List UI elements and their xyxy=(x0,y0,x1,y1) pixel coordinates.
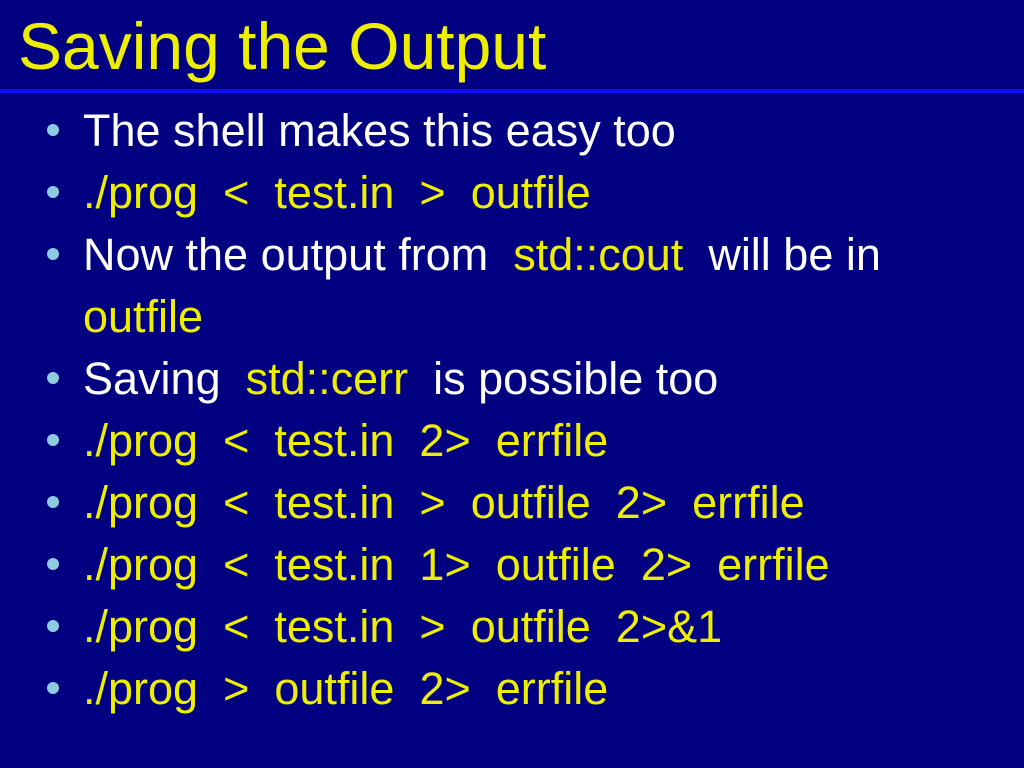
list-item: ./prog < test.in > outfile 2>&1 xyxy=(0,596,1024,658)
bullet-dot-icon xyxy=(47,124,59,136)
bullet-dot-icon xyxy=(47,558,59,570)
code-text: std::cout xyxy=(501,229,696,280)
bullet-dot-icon xyxy=(47,620,59,632)
bullet-dot-icon xyxy=(47,496,59,508)
list-item: ./prog > outfile 2> errfile xyxy=(0,658,1024,720)
bullet-dot-icon xyxy=(47,186,59,198)
list-item: ./prog < test.in > outfile 2> errfile xyxy=(0,472,1024,534)
slide-title-area: Saving the Output xyxy=(0,0,1024,90)
list-item-text: ./prog < test.in > outfile xyxy=(83,162,1024,224)
code-text: ./prog < test.in 1> outfile 2> errfile xyxy=(83,539,830,590)
code-text: ./prog < test.in 2> errfile xyxy=(83,415,608,466)
list-item-text: ./prog > outfile 2> errfile xyxy=(83,658,1024,720)
code-text: ./prog < test.in > outfile 2>&1 xyxy=(83,601,722,652)
bullet-dot-icon xyxy=(47,372,59,384)
plain-text: is possible too xyxy=(421,353,719,404)
list-item-text: ./prog < test.in 1> outfile 2> errfile xyxy=(83,534,1024,596)
list-item-text: ./prog < test.in 2> errfile xyxy=(83,410,1024,472)
plain-text: will be in xyxy=(696,229,894,280)
list-item: ./prog < test.in 2> errfile xyxy=(0,410,1024,472)
title-divider xyxy=(0,89,1024,93)
list-item-text: ./prog < test.in > outfile 2> errfile xyxy=(83,472,1024,534)
bullet-list: The shell makes this easy too./prog < te… xyxy=(0,100,1024,720)
list-item: The shell makes this easy too xyxy=(0,100,1024,162)
bullet-dot-icon xyxy=(47,434,59,446)
plain-text: Saving xyxy=(83,353,233,404)
code-text: std::cerr xyxy=(233,353,421,404)
list-item-text: ./prog < test.in > outfile 2>&1 xyxy=(83,596,1024,658)
list-item: ./prog < test.in 1> outfile 2> errfile xyxy=(0,534,1024,596)
bullet-dot-icon xyxy=(47,682,59,694)
plain-text: The shell makes this easy too xyxy=(83,105,676,156)
bullet-dot-icon xyxy=(47,248,59,260)
list-item: Saving std::cerr is possible too xyxy=(0,348,1024,410)
list-item: Now the output from std::cout will be in… xyxy=(0,224,1024,348)
presentation-slide: Saving the Output The shell makes this e… xyxy=(0,0,1024,768)
page-title: Saving the Output xyxy=(18,6,546,86)
code-text: ./prog < test.in > outfile 2> errfile xyxy=(83,477,805,528)
code-text: ./prog > outfile 2> errfile xyxy=(83,663,608,714)
list-item-text: Now the output from std::cout will be in… xyxy=(83,224,1024,348)
list-item-text: The shell makes this easy too xyxy=(83,100,1024,162)
list-item: ./prog < test.in > outfile xyxy=(0,162,1024,224)
list-item-text: Saving std::cerr is possible too xyxy=(83,348,1024,410)
code-text: ./prog < test.in > outfile xyxy=(83,167,591,218)
plain-text: Now the output from xyxy=(83,229,501,280)
